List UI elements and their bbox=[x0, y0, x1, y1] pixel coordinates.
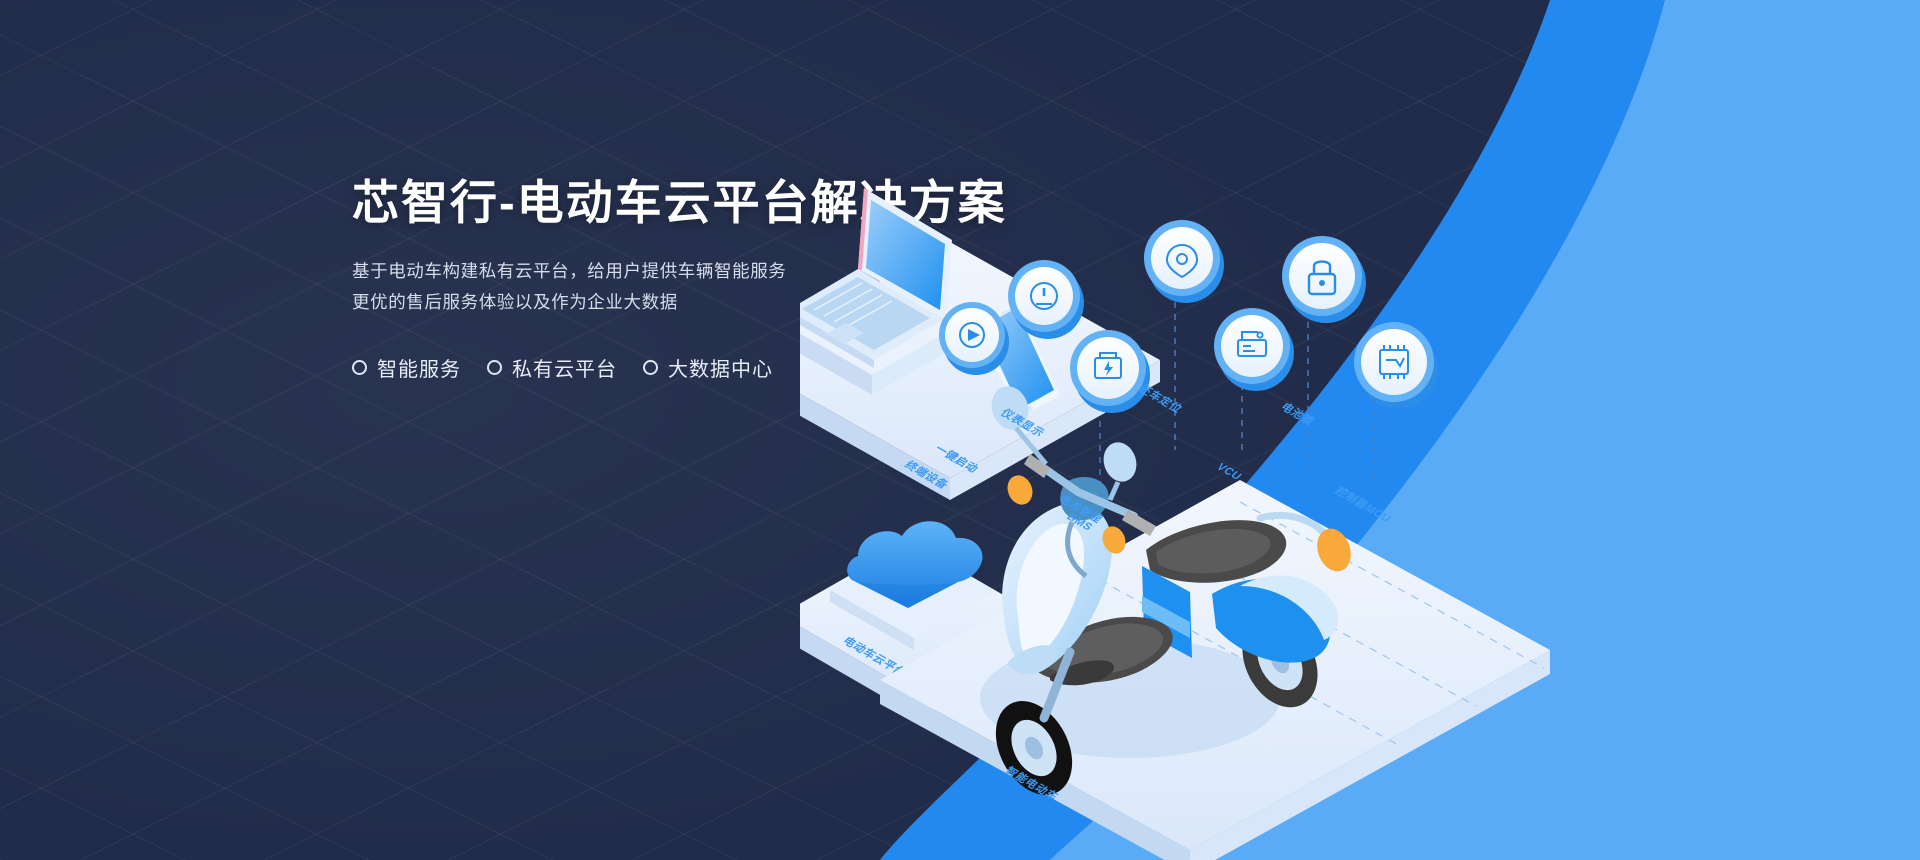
feature-label: 控制器MCU bbox=[1332, 484, 1395, 524]
bullet-label: 大数据中心 bbox=[668, 353, 773, 382]
feature-icon-vcu[interactable]: VCU bbox=[1214, 308, 1294, 482]
isometric-illustration: 终端设备 电动车云平台 bbox=[800, 150, 1920, 860]
bullet-label: 私有云平台 bbox=[512, 353, 617, 382]
feature-label: VCU bbox=[1214, 462, 1244, 483]
scooter-grip-left bbox=[1024, 454, 1050, 478]
scooter-mirror-right bbox=[1099, 438, 1142, 486]
scooter-grip-right bbox=[1122, 510, 1156, 536]
bullet-item-big-data: 大数据中心 bbox=[643, 353, 773, 382]
bullet-label: 智能服务 bbox=[377, 353, 461, 382]
bullet-item-private-cloud: 私有云平台 bbox=[487, 353, 617, 382]
feature-icon-controller-mcu[interactable]: 控制器MCU bbox=[1332, 322, 1438, 525]
feature-label: 还车定位 bbox=[1135, 382, 1186, 415]
circle-bullet-icon bbox=[487, 360, 502, 375]
circle-bullet-icon bbox=[643, 360, 658, 375]
circle-bullet-icon bbox=[352, 360, 367, 375]
scooter-indicator-left bbox=[1003, 472, 1036, 509]
feature-icon-return-location[interactable]: 还车定位 bbox=[1135, 220, 1224, 415]
bullet-item-smart-service: 智能服务 bbox=[352, 353, 461, 382]
scooter-mirror-stem-right bbox=[1110, 482, 1118, 500]
banner-stage: 芯智行-电动车云平台解决方案 基于电动车构建私有云平台，给用户提供车辆智能服务 … bbox=[0, 0, 1920, 860]
feature-icon-battery-lock[interactable]: 电池锁 bbox=[1278, 236, 1366, 428]
feature-label: 电池锁 bbox=[1278, 400, 1318, 427]
